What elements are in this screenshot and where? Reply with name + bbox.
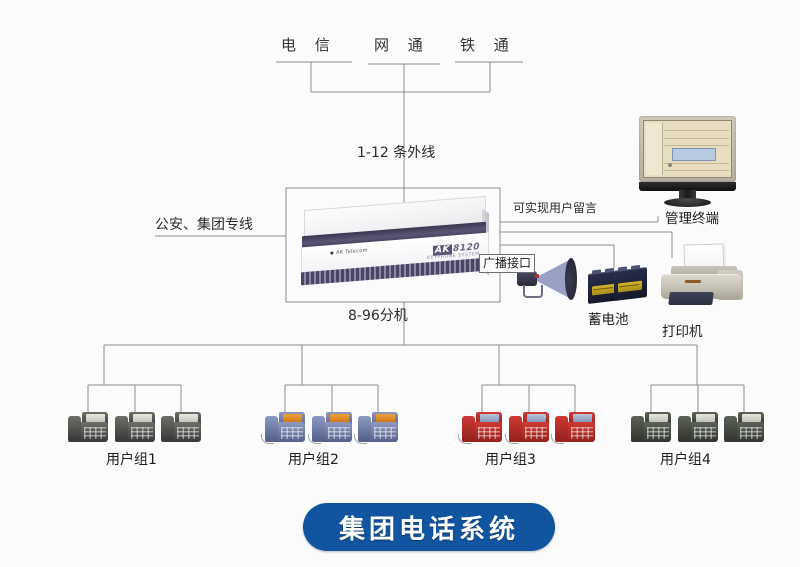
diagram-canvas: ◆ AK Telecom AK8120 KEYPHONE SYSTEM bbox=[0, 0, 800, 567]
management-terminal-label: 管理终端 bbox=[665, 213, 719, 227]
carrier-label-netcom: 网 通 bbox=[374, 38, 430, 53]
carrier-label-railcom: 铁 通 bbox=[460, 38, 516, 53]
user-group-1-label: 用户组1 bbox=[106, 453, 157, 467]
user-group-3-label: 用户组3 bbox=[485, 453, 536, 467]
user-group-2-label: 用户组2 bbox=[288, 453, 339, 467]
extensions-label: 8-96分机 bbox=[348, 309, 408, 323]
user-group-4-label: 用户组4 bbox=[660, 453, 711, 467]
outside-lines-label: 1-12 条外线 bbox=[357, 146, 435, 160]
carrier-label-telecom: 电 信 bbox=[281, 38, 337, 53]
printer-label: 打印机 bbox=[662, 326, 703, 340]
dedicated-line-label: 公安、集团专线 bbox=[155, 218, 253, 232]
voicemail-note-label: 可实现用户留言 bbox=[513, 202, 597, 214]
battery-label: 蓄电池 bbox=[588, 314, 629, 328]
diagram-labels: 电 信 网 通 铁 通 1-12 条外线 公安、集团专线 8-96分机 可实现用… bbox=[0, 0, 800, 567]
broadcast-interface-label: 广播接口 bbox=[479, 254, 535, 273]
